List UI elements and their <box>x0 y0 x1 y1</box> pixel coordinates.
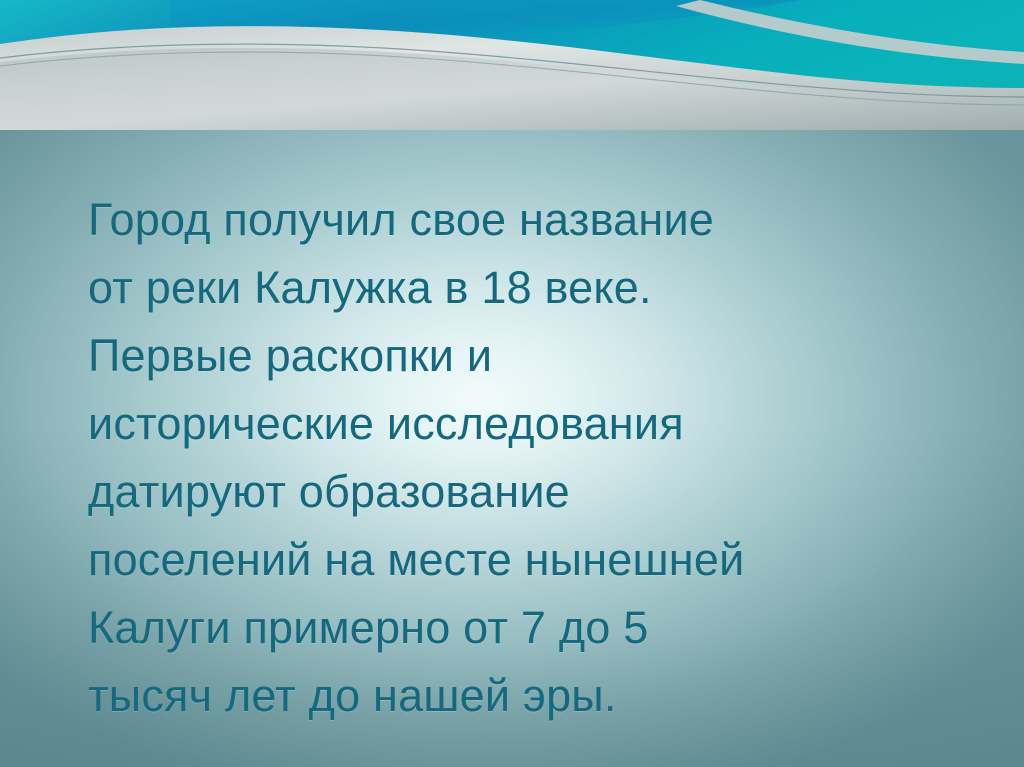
text-line: Первые раскопки и <box>88 322 968 390</box>
text-line: исторические исследования <box>88 390 968 458</box>
text-line: тысяч лет до нашей эры. <box>88 662 968 730</box>
presentation-slide: Город получил свое название от реки Калу… <box>0 0 1024 767</box>
slide-body-text: Город получил свое название от реки Калу… <box>88 186 968 730</box>
text-line: датируют образование <box>88 458 968 526</box>
text-line: Калуги примерно от 7 до 5 <box>88 594 968 662</box>
text-line: от реки Калужка в 18 веке. <box>88 254 968 322</box>
text-line: поселений на месте нынешней <box>88 526 968 594</box>
text-line: Город получил свое название <box>88 186 968 254</box>
